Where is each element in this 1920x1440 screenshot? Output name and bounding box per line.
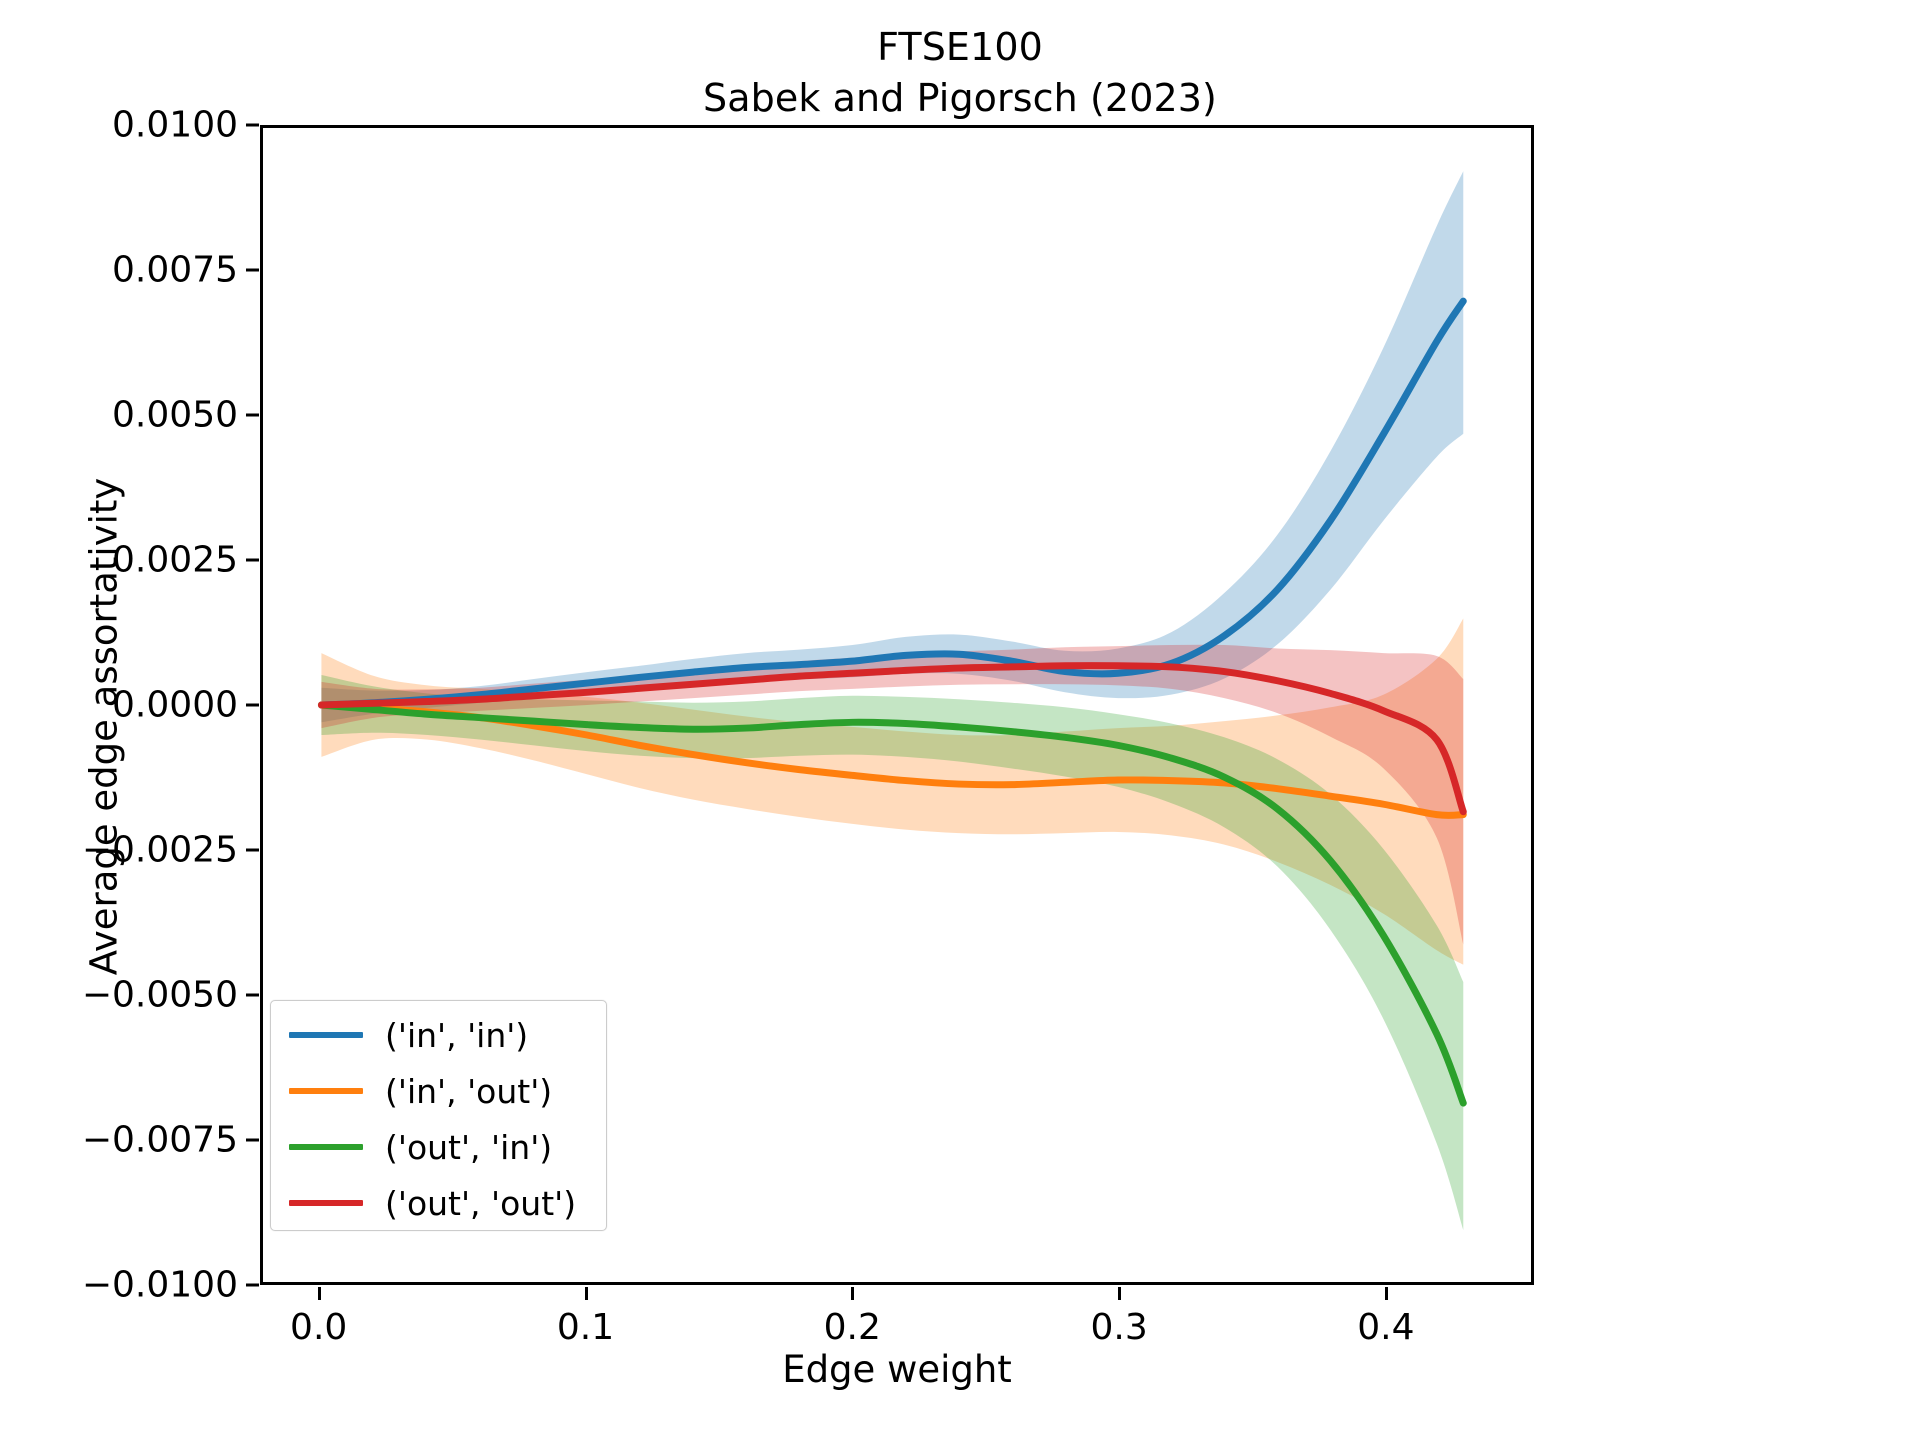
y-tick-label: 0.0025: [18, 540, 238, 581]
x-tick-mark: [585, 1287, 588, 1300]
legend-item-label: ('out', 'out'): [385, 1184, 576, 1223]
confidence-band-0: [321, 171, 1463, 722]
legend-item-label: ('out', 'in'): [385, 1128, 552, 1167]
x-tick-mark: [851, 1287, 854, 1300]
y-tick-label: −0.0100: [18, 1265, 238, 1306]
y-axis-label: Average edge assortativity: [83, 357, 126, 1097]
x-tick-label: 0.3: [1039, 1307, 1199, 1348]
x-tick-label: 0.4: [1306, 1307, 1466, 1348]
legend-swatch-icon: [289, 1032, 363, 1038]
y-tick-label: 0.0075: [18, 250, 238, 291]
y-tick-mark: [246, 414, 259, 417]
y-tick-mark: [246, 1139, 259, 1142]
y-tick-label: 0.0050: [18, 395, 238, 436]
legend-item[interactable]: ('in', 'in'): [271, 1007, 606, 1063]
y-tick-label: −0.0050: [18, 975, 238, 1016]
chart-legend[interactable]: ('in', 'in')('in', 'out')('out', 'in')('…: [270, 1000, 607, 1231]
x-tick-label: 0.2: [772, 1307, 932, 1348]
legend-item[interactable]: ('out', 'in'): [271, 1119, 606, 1175]
y-tick-mark: [246, 269, 259, 272]
y-tick-mark: [246, 994, 259, 997]
legend-item[interactable]: ('in', 'out'): [271, 1063, 606, 1119]
x-tick-label: 0.0: [239, 1307, 399, 1348]
y-tick-label: 0.0100: [18, 105, 238, 146]
x-tick-mark: [1118, 1287, 1121, 1300]
chart-figure: FTSE100 Sabek and Pigorsch (2023) 0.0100…: [0, 0, 1920, 1440]
y-tick-label: 0.0000: [18, 685, 238, 726]
y-tick-mark: [246, 124, 259, 127]
y-tick-label: −0.0025: [18, 830, 238, 871]
y-tick-mark: [246, 559, 259, 562]
page-title: FTSE100: [0, 22, 1920, 73]
x-tick-label: 0.1: [506, 1307, 666, 1348]
y-tick-mark: [246, 849, 259, 852]
x-tick-mark: [318, 1287, 321, 1300]
y-tick-mark: [246, 704, 259, 707]
legend-swatch-icon: [289, 1088, 363, 1094]
x-tick-mark: [1385, 1287, 1388, 1300]
legend-item[interactable]: ('out', 'out'): [271, 1175, 606, 1231]
legend-swatch-icon: [289, 1144, 363, 1150]
chart-title-block: FTSE100 Sabek and Pigorsch (2023): [0, 22, 1920, 124]
y-tick-mark: [246, 1284, 259, 1287]
chart-subtitle: Sabek and Pigorsch (2023): [0, 73, 1920, 124]
legend-item-label: ('in', 'out'): [385, 1072, 552, 1111]
y-tick-label: −0.0075: [18, 1120, 238, 1161]
legend-swatch-icon: [289, 1200, 363, 1206]
x-axis-label: Edge weight: [260, 1348, 1534, 1391]
legend-item-label: ('in', 'in'): [385, 1016, 528, 1055]
